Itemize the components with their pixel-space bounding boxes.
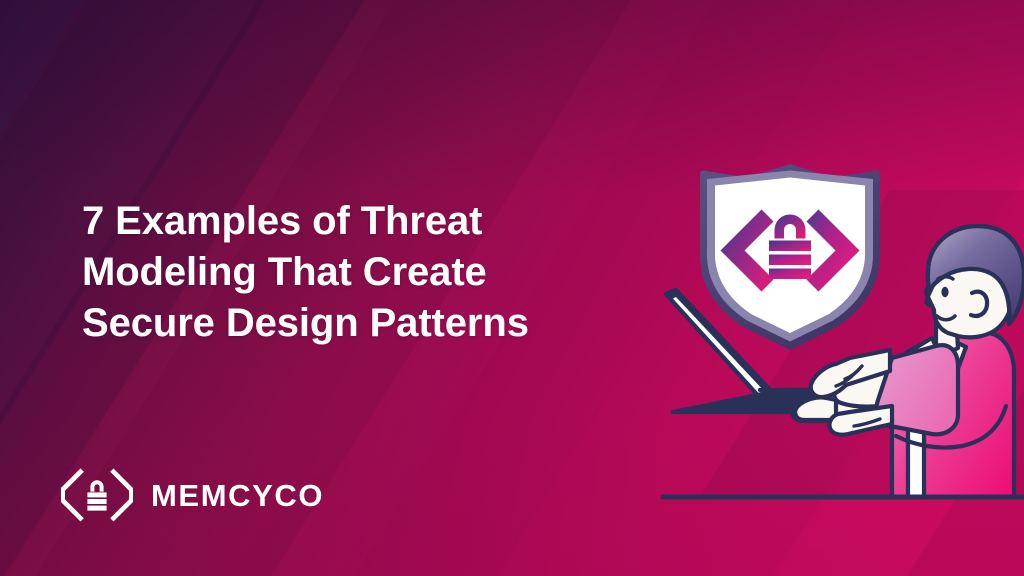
blog-cover-banner: 7 Examples of Threat Modeling That Creat… [0, 0, 1024, 576]
memcyco-logo[interactable]: MEMCYCO [60, 466, 324, 524]
page-title: 7 Examples of Threat Modeling That Creat… [82, 196, 642, 349]
memcyco-logo-mark-icon [60, 466, 134, 524]
hero-illustration [640, 150, 1024, 576]
person-hand-far [795, 397, 836, 420]
hero-illustration-svg [640, 150, 1024, 576]
memcyco-logo-wordmark: MEMCYCO [151, 480, 324, 511]
page-title-line: Secure Design Patterns [82, 298, 642, 349]
page-title-line: 7 Examples of Threat [82, 196, 642, 247]
page-title-line: Modeling That Create [82, 247, 642, 298]
